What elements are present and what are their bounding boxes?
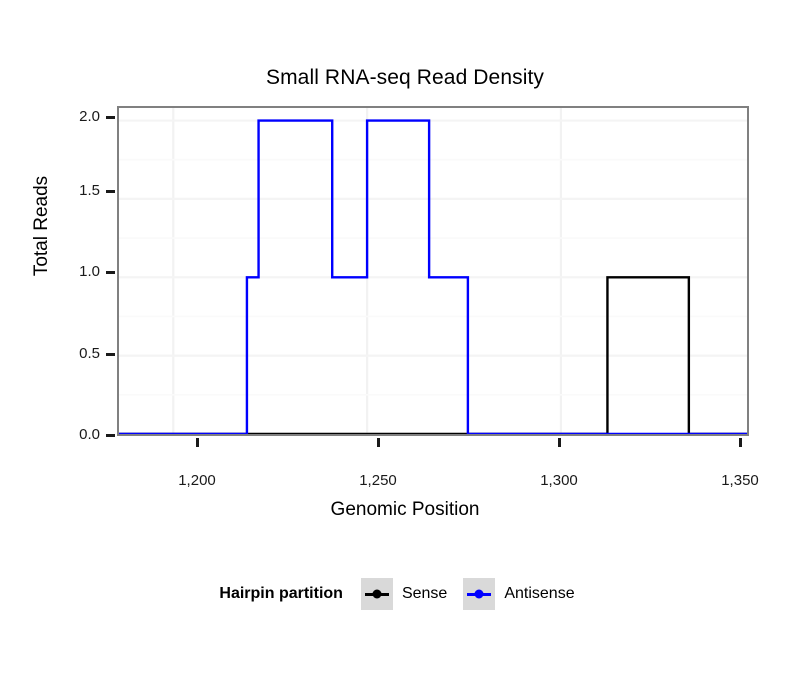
chart-figure: Small RNA-seq Read Density Total Reads G…: [0, 0, 810, 690]
y-tick-label: 0.0: [62, 426, 100, 443]
y-tick-mark: [106, 271, 115, 274]
x-tick-mark: [739, 438, 742, 447]
x-tick-label: 1,350: [705, 472, 775, 489]
plot-area: [119, 108, 747, 434]
y-tick-label: 1.5: [62, 182, 100, 199]
legend-key-sense-icon: [361, 578, 393, 610]
y-tick-label: 0.5: [62, 345, 100, 362]
legend-item-antisense[interactable]: Antisense: [463, 578, 574, 610]
plot-panel: [117, 106, 749, 436]
legend-point-antisense: [475, 590, 484, 599]
legend: Hairpin partition Sense Antisense: [0, 578, 810, 610]
y-tick-mark: [106, 116, 115, 119]
chart-title: Small RNA-seq Read Density: [0, 66, 810, 90]
x-tick-label: 1,200: [162, 472, 232, 489]
x-tick-mark: [377, 438, 380, 447]
y-tick-label: 2.0: [62, 108, 100, 125]
x-tick-mark: [558, 438, 561, 447]
legend-title: Hairpin partition: [219, 585, 343, 603]
y-tick-label: 1.0: [62, 263, 100, 280]
y-axis-label: Total Reads: [31, 156, 53, 296]
x-tick-label: 1,300: [524, 472, 594, 489]
x-axis-label: Genomic Position: [0, 499, 810, 521]
legend-label-sense: Sense: [402, 585, 447, 603]
y-tick-mark: [106, 190, 115, 193]
gridlines: [119, 108, 747, 434]
y-tick-mark: [106, 353, 115, 356]
legend-key-antisense-icon: [463, 578, 495, 610]
x-tick-label: 1,250: [343, 472, 413, 489]
x-tick-mark: [196, 438, 199, 447]
y-tick-mark: [106, 434, 115, 437]
legend-label-antisense: Antisense: [504, 585, 574, 603]
legend-point-sense: [372, 590, 381, 599]
legend-item-sense[interactable]: Sense: [361, 578, 447, 610]
